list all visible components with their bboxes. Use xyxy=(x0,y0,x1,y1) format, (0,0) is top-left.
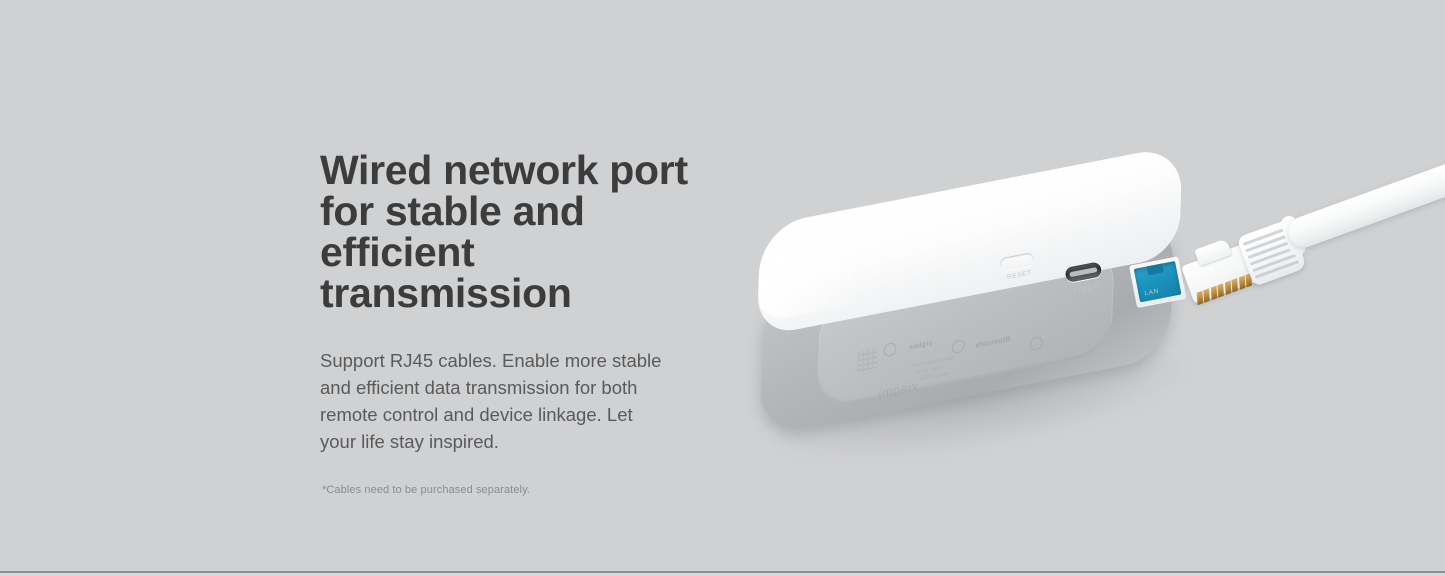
copy-block: Wired network port for stable and effici… xyxy=(320,150,720,455)
reset-button[interactable] xyxy=(999,252,1035,271)
zigbee-cert-label: zigbee xyxy=(909,340,932,352)
rj45-pin xyxy=(1197,291,1203,305)
bluetooth-cert-label: Bluetooth xyxy=(975,336,1010,350)
rj45-pin xyxy=(1239,275,1245,289)
zigbee-logo-icon xyxy=(952,339,965,355)
page-title: Wired network port for stable and effici… xyxy=(320,150,720,314)
qr-code-icon xyxy=(857,347,877,371)
rj45-pin xyxy=(1225,281,1231,295)
rj45-pin xyxy=(1232,278,1238,292)
promo-banner: Wired network port for stable and effici… xyxy=(0,0,1445,576)
brand-logo: xiaomi xyxy=(878,378,918,401)
usb-c-port[interactable] xyxy=(1064,261,1102,283)
footnote-disclaimer: *Cables need to be purchased separately. xyxy=(322,484,530,496)
rj45-pin xyxy=(1211,286,1217,300)
usb-c-port-label: TYPE-C xyxy=(1072,283,1101,295)
reset-port-label: RESET xyxy=(1006,270,1032,282)
lan-port-notch xyxy=(1146,263,1163,275)
ethernet-cable xyxy=(1159,134,1445,352)
rj45-pin xyxy=(1218,283,1224,297)
hub-shell-highlight xyxy=(757,222,878,323)
usb-c-tongue xyxy=(1069,267,1097,277)
ce-mark-icon xyxy=(883,342,896,358)
product-image: zigbee Bluetooth Model: DGNWG05LM Input:… xyxy=(735,150,1445,470)
body-description: Support RJ45 cables. Enable more stable … xyxy=(320,347,668,455)
bluetooth-logo-icon xyxy=(1030,336,1043,352)
cable-jacket xyxy=(1284,154,1445,252)
rj45-pin xyxy=(1204,288,1210,302)
